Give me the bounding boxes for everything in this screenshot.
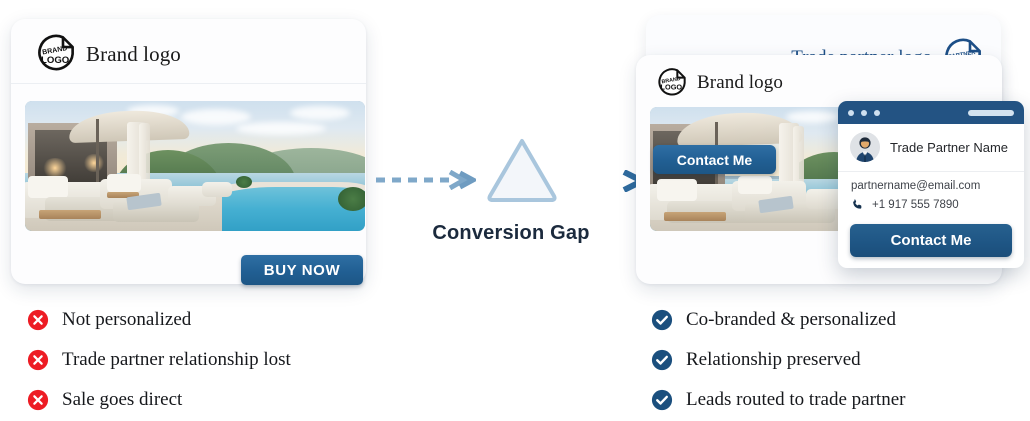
contact-person-name: Trade Partner Name	[890, 140, 1008, 155]
x-circle-icon	[27, 349, 49, 371]
x-circle-icon	[27, 309, 49, 331]
solid-arrow-right-icon	[550, 170, 646, 192]
list-item-label: Trade partner relationship lost	[62, 349, 291, 371]
conversion-gap-caption: Conversion Gap	[372, 222, 650, 245]
left-brand-title: Brand logo	[86, 42, 181, 67]
window-dot-icon	[848, 110, 854, 116]
infographic-canvas: BRAND LOGO Brand logo	[0, 0, 1030, 421]
list-item-label: Leads routed to trade partner	[686, 389, 905, 411]
list-item: Co-branded & personalized	[651, 300, 905, 340]
brand-logo-badge-icon: BRAND LOGO	[656, 67, 688, 99]
left-card-divider	[11, 83, 366, 84]
list-item: Not personalized	[27, 300, 291, 340]
contact-name-row: Trade Partner Name	[838, 124, 1024, 172]
contact-me-overlay-button[interactable]: Contact Me	[653, 145, 776, 174]
check-circle-icon	[651, 309, 673, 331]
svg-text:LOGO: LOGO	[41, 55, 70, 66]
svg-text:LOGO: LOGO	[661, 83, 683, 92]
left-hero-image	[25, 101, 365, 231]
positive-points-list: Co-branded & personalized Relationship p…	[651, 300, 905, 420]
window-dot-icon	[874, 110, 880, 116]
brand-logo-badge-icon: BRAND LOGO	[35, 33, 77, 75]
list-item: Leads routed to trade partner	[651, 380, 905, 420]
list-item: Trade partner relationship lost	[27, 340, 291, 380]
buy-now-button[interactable]: BUY NOW	[241, 255, 363, 285]
list-item-label: Not personalized	[62, 309, 191, 331]
contact-details: partnername@email.com +1 917 555 7890	[838, 172, 1024, 217]
contact-phone-row[interactable]: +1 917 555 7890	[851, 198, 1011, 211]
list-item: Relationship preserved	[651, 340, 905, 380]
contact-card-titlebar	[838, 101, 1024, 124]
contact-email[interactable]: partnername@email.com	[851, 180, 1011, 192]
left-brand-header: BRAND LOGO Brand logo	[35, 33, 181, 75]
right-brand-header: BRAND LOGO Brand logo	[656, 67, 783, 99]
contact-me-card-button[interactable]: Contact Me	[850, 224, 1012, 257]
dashed-arrow-right-icon	[376, 170, 476, 190]
trade-partner-contact-card: Trade Partner Name partnername@email.com…	[838, 101, 1024, 268]
right-brand-title: Brand logo	[697, 72, 783, 94]
conversion-gap-group: Conversion Gap	[372, 0, 650, 421]
phone-handset-icon	[851, 198, 864, 211]
list-item-label: Sale goes direct	[62, 389, 182, 411]
check-circle-icon	[651, 389, 673, 411]
contact-phone-number: +1 917 555 7890	[872, 199, 959, 211]
list-item-label: Relationship preserved	[686, 349, 861, 371]
window-dot-icon	[861, 110, 867, 116]
person-avatar-icon	[850, 132, 880, 162]
list-item: Sale goes direct	[27, 380, 291, 420]
left-generic-email-card: BRAND LOGO Brand logo	[11, 19, 366, 284]
window-bar-icon	[968, 110, 1014, 116]
negative-points-list: Not personalized Trade partner relations…	[27, 300, 291, 420]
list-item-label: Co-branded & personalized	[686, 309, 896, 331]
x-circle-icon	[27, 389, 49, 411]
check-circle-icon	[651, 349, 673, 371]
triangle-outline-icon	[484, 134, 560, 206]
